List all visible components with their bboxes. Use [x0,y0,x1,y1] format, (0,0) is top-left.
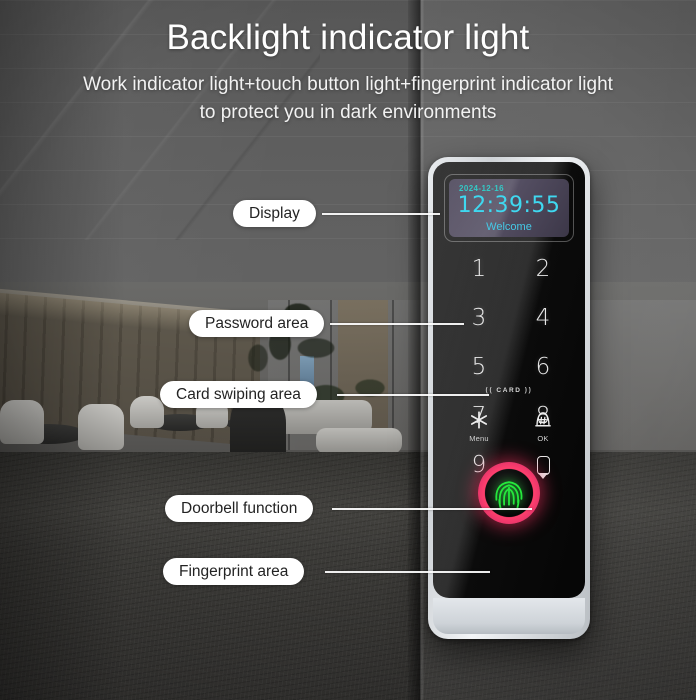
asterisk-icon [467,408,491,432]
display-status: Welcome [449,221,569,233]
display-time: 12:39:55 [449,193,569,218]
callout-label-display[interactable]: Display [233,200,316,227]
function-key-row: Menu [433,408,585,458]
callout-label-password-area[interactable]: Password area [189,310,324,337]
card-wave-right-icon: )) [525,387,533,394]
key-4[interactable]: 4 [517,303,569,333]
smart-door-lock: 2024-12-16 12:39:55 Welcome 1 2 3 4 5 6 … [428,157,590,639]
callout-label-doorbell-function[interactable]: Doorbell function [165,495,313,522]
ok-key-label: OK [537,434,548,443]
menu-key[interactable]: Menu [451,408,507,443]
leader-line-password-area [330,323,464,325]
callout-label-card-swiping-area[interactable]: Card swiping area [160,381,317,408]
display-bezel: 2024-12-16 12:39:55 Welcome [444,174,574,242]
callout-label-fingerprint-area[interactable]: Fingerprint area [163,558,304,585]
key-2[interactable]: 2 [517,254,569,284]
subtitle-line-2: to protect you in dark environments [0,99,696,127]
device-lower-housing [433,598,585,634]
card-swipe-label: (( CARD )) [433,387,585,394]
header: Backlight indicator light Work indicator… [0,0,696,127]
leader-line-fingerprint-area [325,571,490,573]
key-1[interactable]: 1 [453,254,505,284]
key-3[interactable]: 3 [453,303,505,333]
page-title: Backlight indicator light [0,18,696,58]
product-feature-banner: Backlight indicator light Work indicator… [0,0,696,700]
card-label-text: CARD [496,387,521,394]
device-touch-panel[interactable]: 2024-12-16 12:39:55 Welcome 1 2 3 4 5 6 … [433,162,585,598]
display-date: 2024-12-16 [459,184,504,193]
display-screen: 2024-12-16 12:39:55 Welcome [449,179,569,237]
doorbell-ok-key[interactable]: OK [515,408,571,443]
subtitle-line-1: Work indicator light+touch button light+… [0,71,696,99]
leader-line-doorbell-function [332,508,532,510]
fingerprint-sensor[interactable] [478,462,540,524]
menu-key-label: Menu [469,434,489,443]
fingerprint-sensor-surface [485,469,533,517]
key-6[interactable]: 6 [517,352,569,382]
leader-line-display [322,213,440,215]
leader-line-card-swiping-area [337,394,489,396]
page-subtitle: Work indicator light+touch button light+… [0,71,696,127]
key-5[interactable]: 5 [453,352,505,382]
doorbell-hash-icon [531,408,555,432]
card-wave-left-icon: (( [486,387,494,394]
fingerprint-icon [491,475,527,511]
